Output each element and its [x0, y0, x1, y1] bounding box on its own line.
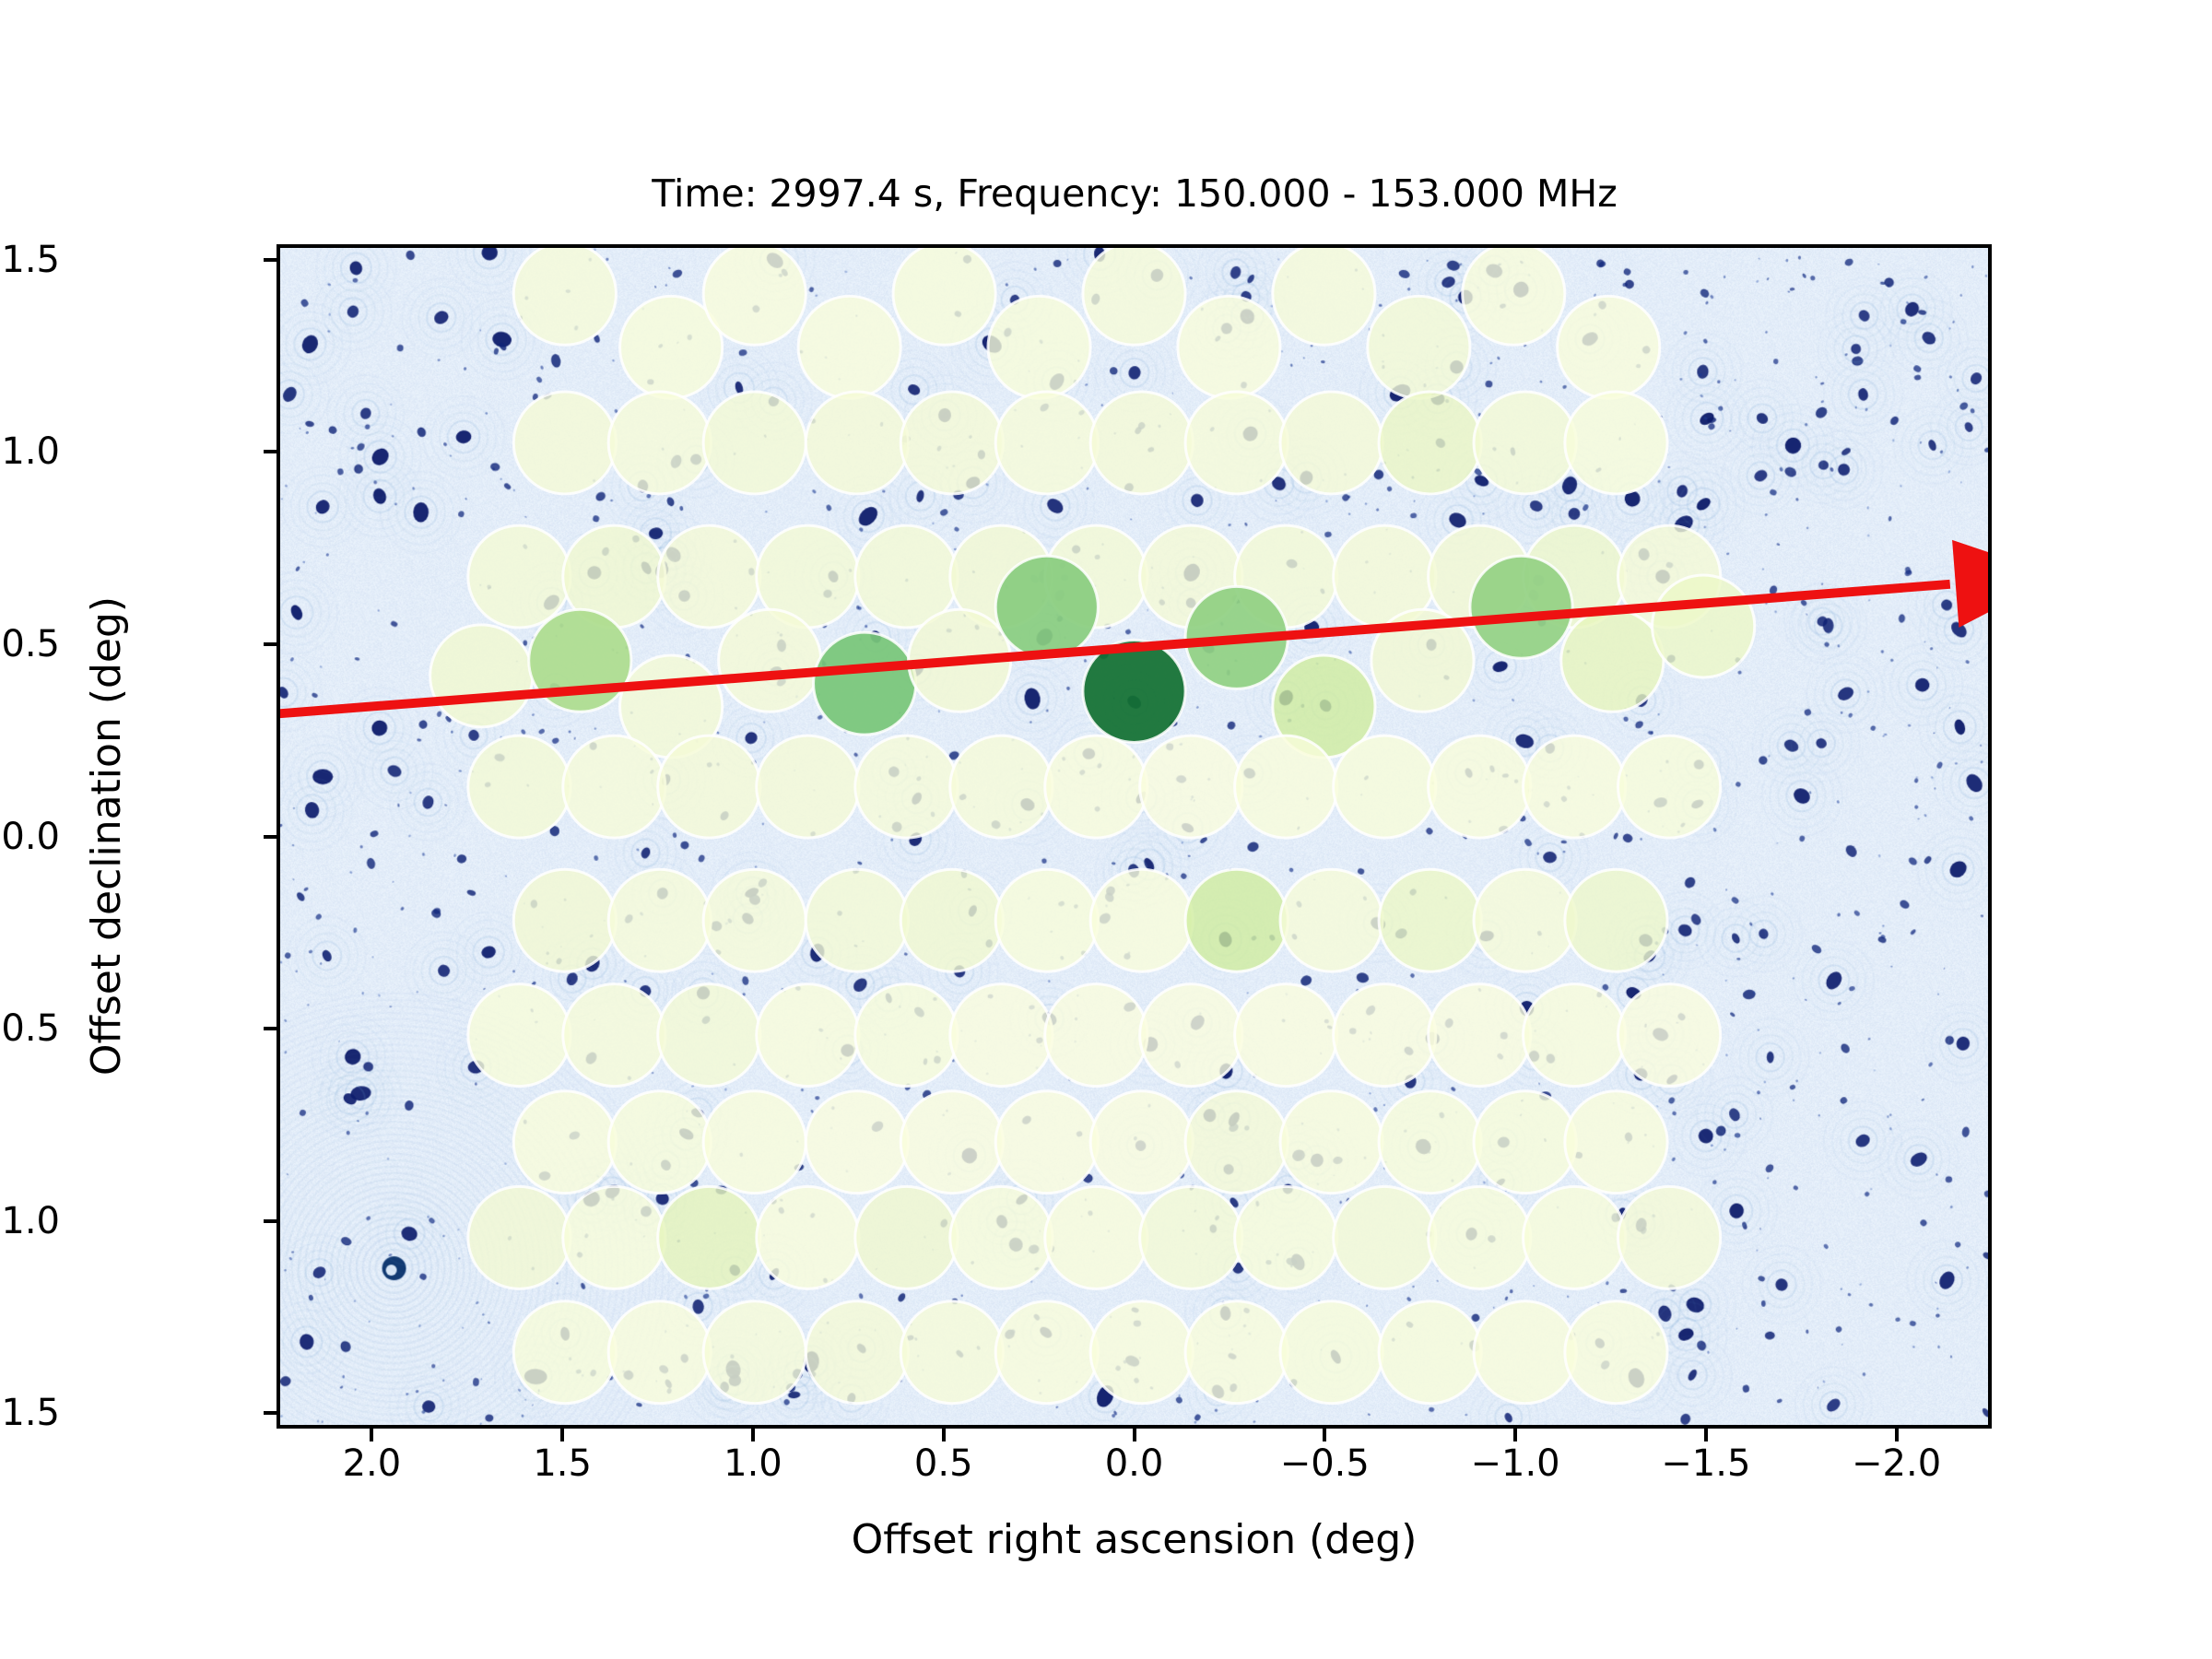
beam-circle	[1083, 248, 1185, 345]
beam-circle	[1235, 984, 1337, 1087]
beam-circle	[806, 1301, 908, 1404]
beam-circle	[1379, 1091, 1481, 1194]
beam-circle	[1280, 1301, 1382, 1404]
x-tick-label: −1.5	[1661, 1442, 1750, 1485]
beam-circle	[703, 392, 806, 494]
y-tick-label: −1.0	[0, 1200, 60, 1242]
x-axis-label: Offset right ascension (deg)	[276, 1516, 1992, 1563]
beam-circle	[1334, 984, 1436, 1087]
beam-circle	[1558, 296, 1660, 398]
beam-circle	[1379, 1301, 1481, 1404]
beam-circle	[1379, 869, 1481, 971]
beam-circle	[1474, 1091, 1576, 1194]
x-tick-mark	[1133, 1429, 1136, 1441]
beam-circle	[1429, 1186, 1531, 1288]
beam-circle	[1090, 1301, 1193, 1404]
beam-circle	[1524, 1186, 1626, 1288]
y-tick-label: −1.5	[0, 1392, 60, 1434]
beam-circle	[1334, 1186, 1436, 1288]
beam-circle	[1178, 296, 1280, 398]
beam-circle	[855, 984, 958, 1087]
y-tick-mark	[264, 1219, 276, 1223]
beam-circle	[988, 296, 1090, 398]
x-tick-label: 1.0	[724, 1442, 782, 1485]
beam-circle	[513, 869, 616, 971]
beam-circle	[1140, 735, 1242, 838]
beam-circle	[1565, 869, 1667, 971]
beam-circle	[757, 735, 859, 838]
x-tick-mark	[1704, 1429, 1708, 1441]
arrow-head-icon	[1952, 540, 1988, 628]
beam-circle	[1185, 869, 1288, 971]
beam-circle	[814, 632, 916, 735]
y-tick-label: 0.0	[1, 816, 60, 858]
beam-circle	[900, 869, 1003, 971]
beam-circle	[995, 556, 1098, 658]
beam-circle	[468, 525, 571, 628]
page-title: Time: 2997.4 s, Frequency: 150.000 - 153…	[276, 171, 1993, 216]
beam-circle	[1524, 984, 1626, 1087]
x-tick-label: 2.0	[343, 1442, 402, 1485]
beam-circle	[1463, 248, 1565, 345]
beam-circle	[608, 392, 711, 494]
beam-circle	[1618, 1186, 1721, 1288]
beam-circle	[1273, 248, 1375, 345]
beam-circle	[703, 869, 806, 971]
beam-circle	[1565, 392, 1667, 494]
beam-circle	[719, 609, 821, 712]
x-tick-mark	[751, 1429, 755, 1441]
beam-circle	[1470, 556, 1572, 658]
x-tick-mark	[1513, 1429, 1517, 1441]
y-tick-label: 1.5	[1, 239, 60, 281]
x-tick-label: 1.5	[533, 1442, 592, 1485]
beam-circle	[1280, 1091, 1382, 1194]
beam-circle	[513, 1091, 616, 1194]
beam-circle	[1565, 1091, 1667, 1194]
y-tick-mark	[264, 1411, 276, 1415]
beam-circle	[1235, 1186, 1337, 1288]
beam-circle	[1090, 392, 1193, 494]
y-axis-label: Offset declination (deg)	[83, 467, 130, 1205]
x-tick-mark	[370, 1429, 373, 1441]
beam-circle	[1524, 735, 1626, 838]
beam-circle	[995, 1091, 1098, 1194]
beam-circle	[806, 1091, 908, 1194]
beam-circle	[1379, 392, 1481, 494]
beam-circle	[1140, 1186, 1242, 1288]
beam-circle	[1561, 609, 1664, 712]
beam-circle	[608, 1091, 711, 1194]
beam-circle	[703, 248, 806, 345]
beam-circle	[1235, 735, 1337, 838]
beam-circle	[608, 869, 711, 971]
beam-circle	[563, 984, 665, 1087]
beam-circle	[430, 625, 533, 727]
beam-circle	[1429, 984, 1531, 1087]
x-tick-mark	[942, 1429, 946, 1441]
x-tick-mark	[1895, 1429, 1899, 1441]
beam-circle	[855, 1186, 958, 1288]
beam-circle	[513, 248, 616, 345]
x-tick-mark	[1323, 1429, 1326, 1441]
y-tick-label: −0.5	[0, 1007, 60, 1050]
x-tick-label: 0.0	[1105, 1442, 1164, 1485]
beam-circle	[855, 735, 958, 838]
y-tick-label: 1.0	[1, 430, 60, 473]
beam-circle	[1429, 735, 1531, 838]
beam-circles-group	[430, 248, 1755, 1404]
beam-circle	[513, 392, 616, 494]
beam-circle	[1185, 1091, 1288, 1194]
beam-circle	[1565, 1301, 1667, 1404]
beam-circle	[658, 525, 760, 628]
y-tick-mark	[264, 642, 276, 646]
beam-circle	[950, 1186, 1053, 1288]
beam-circle	[950, 735, 1053, 838]
beam-circle	[893, 248, 995, 345]
beam-circle	[1368, 296, 1470, 398]
beam-circle	[995, 869, 1098, 971]
beam-circle	[757, 984, 859, 1087]
beam-circle	[995, 392, 1098, 494]
beam-circle	[1474, 1301, 1576, 1404]
beam-overlay	[280, 248, 1988, 1425]
beam-circle	[1618, 984, 1721, 1087]
beam-circle	[1334, 735, 1436, 838]
y-tick-mark	[264, 835, 276, 839]
x-tick-mark	[560, 1429, 564, 1441]
beam-circle	[1090, 869, 1193, 971]
y-tick-mark	[264, 1027, 276, 1030]
figure-canvas: Time: 2997.4 s, Frequency: 150.000 - 153…	[0, 0, 2212, 1659]
beam-circle	[1280, 869, 1382, 971]
x-tick-label: −2.0	[1852, 1442, 1941, 1485]
beam-circle	[1474, 392, 1576, 494]
beam-circle	[757, 1186, 859, 1288]
beam-circle	[1653, 575, 1755, 677]
beam-circle	[608, 1301, 711, 1404]
beam-circle	[1474, 869, 1576, 971]
beam-circle	[1045, 1186, 1147, 1288]
beam-circle	[513, 1301, 616, 1404]
beam-circle	[658, 984, 760, 1087]
beam-circle	[1185, 1301, 1288, 1404]
beam-circle	[900, 392, 1003, 494]
beam-circle	[1045, 735, 1147, 838]
x-tick-label: −0.5	[1280, 1442, 1370, 1485]
beam-circle	[1140, 984, 1242, 1087]
beam-circle	[1090, 1091, 1193, 1194]
beam-circle	[995, 1301, 1098, 1404]
plot-area	[276, 244, 1992, 1429]
beam-circle	[1618, 735, 1721, 838]
beam-circle	[468, 984, 571, 1087]
beam-circle	[658, 1186, 760, 1288]
beam-circle	[806, 392, 908, 494]
beam-circle	[1280, 392, 1382, 494]
beam-circle	[1185, 392, 1288, 494]
x-tick-label: −1.0	[1470, 1442, 1559, 1485]
beam-circle	[468, 1186, 571, 1288]
beam-circle	[1045, 984, 1147, 1087]
beam-circle	[703, 1091, 806, 1194]
beam-circle	[798, 296, 900, 398]
y-tick-mark	[264, 258, 276, 262]
beam-circle	[900, 1301, 1003, 1404]
beam-circle	[563, 735, 665, 838]
beam-circle	[658, 735, 760, 838]
beam-circle	[468, 735, 571, 838]
beam-circle	[950, 984, 1053, 1087]
x-tick-label: 0.5	[914, 1442, 973, 1485]
beam-circle	[900, 1091, 1003, 1194]
y-tick-mark	[264, 450, 276, 453]
beam-circle	[563, 1186, 665, 1288]
beam-circle	[703, 1301, 806, 1404]
beam-circle	[806, 869, 908, 971]
y-tick-label: 0.5	[1, 623, 60, 665]
beam-circle	[1083, 640, 1185, 742]
